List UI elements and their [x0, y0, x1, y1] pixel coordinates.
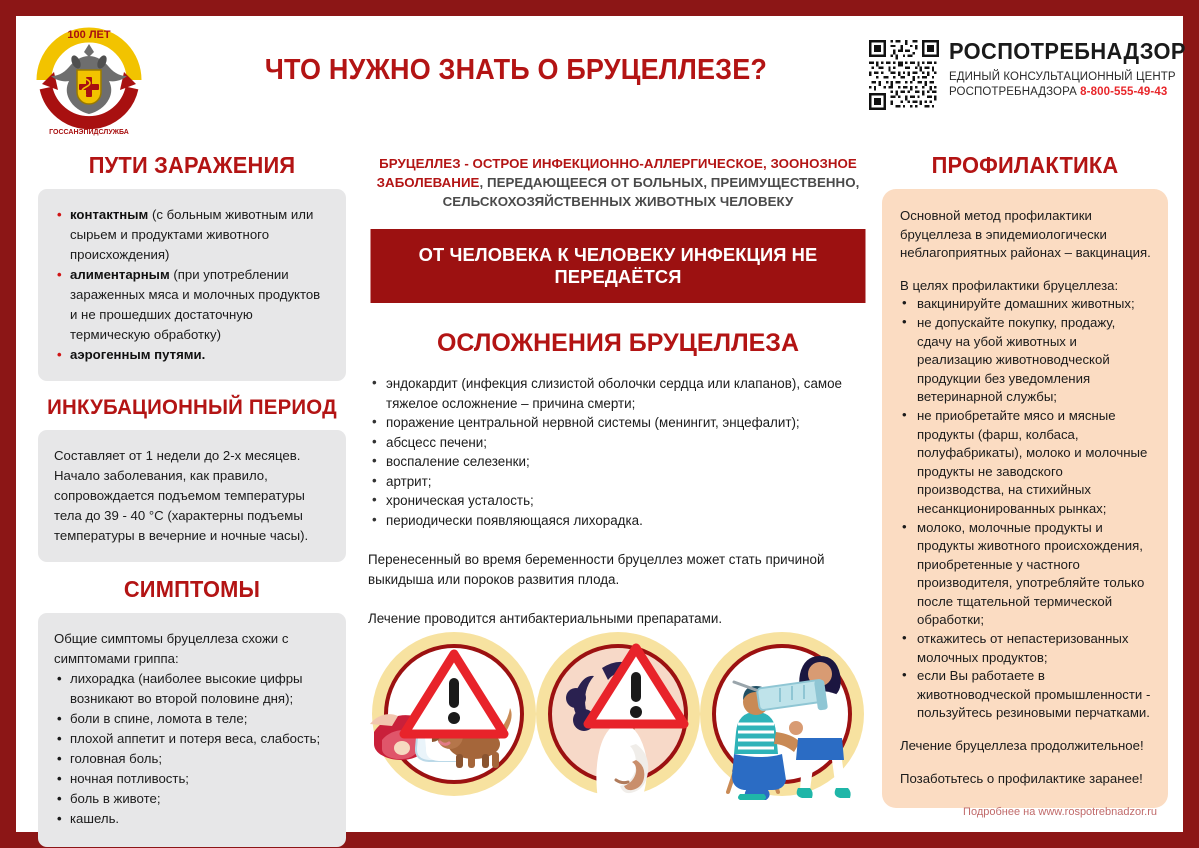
- bullet-icon: •: [57, 205, 62, 225]
- list-item: •боль в животе;: [54, 789, 328, 809]
- prevention-list: •вакцинируйте домашних животных; •не доп…: [900, 295, 1152, 723]
- item-text: вакцинируйте домашних животных;: [917, 296, 1135, 311]
- bullet-icon: •: [57, 769, 62, 789]
- footer-link[interactable]: Подробнее на www.rospotrebnadzor.ru: [963, 806, 1157, 818]
- item-text: кашель.: [70, 811, 119, 826]
- contaminated-food-and-animals-illustration: [368, 628, 540, 800]
- bullet-icon: •: [902, 406, 907, 425]
- list-item: •аэрогенным путями.: [54, 345, 328, 365]
- left-column: ПУТИ ЗАРАЖЕНИЯ •контактным (с больным жи…: [38, 138, 346, 847]
- list-item: •лихорадка (наиболее высокие цифры возни…: [54, 669, 328, 709]
- treatment-note: Лечение проводится антибактериальными пр…: [368, 609, 868, 629]
- item-lead: контактным: [70, 207, 148, 222]
- list-item: •хроническая усталость;: [368, 491, 868, 511]
- item-text: артрит;: [386, 474, 432, 489]
- transmission-panel: •контактным (с больным животным или сырь…: [38, 189, 346, 381]
- bullet-icon: •: [372, 490, 377, 510]
- list-item: •абсцесс печени;: [368, 433, 868, 453]
- closing-treatment: Лечение бруцеллеза продолжительное!: [900, 737, 1152, 756]
- complications-list: •эндокардит (инфекция слизистой оболочки…: [368, 374, 868, 530]
- item-lead: аэрогенным путями.: [70, 347, 205, 362]
- right-column: ПРОФИЛАКТИКА Основной метод профилактики…: [882, 138, 1168, 808]
- page-title: ЧТО НУЖНО ЗНАТЬ О БРУЦЕЛЛЕЗЕ?: [191, 54, 842, 87]
- symptoms-intro: Общие симптомы бруцеллеза схожи с симпто…: [54, 629, 328, 669]
- transmission-list: •контактным (с больным животным или сырь…: [54, 205, 328, 365]
- list-item: •поражение центральной нервной системы (…: [368, 413, 868, 433]
- list-item: •вакцинируйте домашних животных;: [900, 295, 1152, 314]
- transmission-title: ПУТИ ЗАРАЖЕНИЯ: [46, 152, 339, 179]
- list-item: •боли в спине, ломота в теле;: [54, 709, 328, 729]
- bullet-icon: •: [57, 265, 62, 285]
- item-text: не приобретайте мясо и мясные продукты (…: [917, 408, 1147, 516]
- bullet-icon: •: [372, 510, 377, 530]
- list-item: •не приобретайте мясо и мясные продукты …: [900, 407, 1152, 519]
- bullet-icon: •: [57, 669, 62, 689]
- prevention-intro: Основной метод профилактики бруцеллеза в…: [900, 207, 1152, 263]
- item-text: воспаление селезенки;: [386, 454, 530, 469]
- item-lead: алиментарным: [70, 267, 170, 282]
- incubation-title: ИНКУБАЦИОННЫЙ ПЕРИОД: [46, 395, 339, 420]
- bullet-icon: •: [372, 471, 377, 491]
- spacer: [900, 263, 1152, 277]
- item-text: боли в спине, ломота в теле;: [70, 711, 247, 726]
- list-item: •воспаление селезенки;: [368, 452, 868, 472]
- list-item: •плохой аппетит и потеря веса, слабость;: [54, 729, 328, 749]
- pregnancy-note: Перенесенный во время беременности бруце…: [368, 550, 868, 589]
- rospotrebnadzor-emblem-icon: 100 ЛЕТ ГОССАНЭПИДСЛУЖБА: [34, 22, 144, 140]
- bullet-icon: •: [372, 451, 377, 471]
- consultation-center-info: ЕДИНЫЙ КОНСУЛЬТАЦИОННЫЙ ЦЕНТР РОСПОТРЕБН…: [949, 70, 1198, 99]
- rospotrebnadzor-text: РОСПОТРЕБНАДЗОР ЕДИНЫЙ КОНСУЛЬТАЦИОННЫЙ …: [949, 38, 1198, 99]
- list-item: •молоко, молочные продукты и продукты жи…: [900, 519, 1152, 631]
- qr-code-icon: [869, 40, 939, 110]
- item-text: откажитесь от непастеризованных молочных…: [917, 631, 1128, 665]
- complications-title: ОСЛОЖНЕНИЯ БРУЦЕЛЛЕЗА: [368, 329, 868, 358]
- bullet-icon: •: [57, 709, 62, 729]
- item-text: лихорадка (наиболее высокие цифры возник…: [70, 671, 303, 706]
- poster-sheet: 100 ЛЕТ ГОССАНЭПИДСЛУЖБА ЧТО НУЖНО ЗНАТЬ…: [16, 16, 1183, 832]
- symptoms-list: •лихорадка (наиболее высокие цифры возни…: [54, 669, 328, 829]
- item-text: периодически появляющаяся лихорадка.: [386, 513, 643, 528]
- poster-frame: 100 ЛЕТ ГОССАНЭПИДСЛУЖБА ЧТО НУЖНО ЗНАТЬ…: [0, 0, 1199, 848]
- list-item: •откажитесь от непастеризованных молочны…: [900, 630, 1152, 667]
- bullet-icon: •: [902, 294, 907, 313]
- item-text: не допускайте покупку, продажу, сдачу на…: [917, 315, 1115, 404]
- pregnant-woman-warning-illustration: [532, 628, 704, 800]
- bullet-icon: •: [902, 518, 907, 537]
- no-human-to-human-banner: ОТ ЧЕЛОВЕКА К ЧЕЛОВЕКУ ИНФЕКЦИЯ НЕ ПЕРЕД…: [371, 229, 866, 303]
- bullet-icon: •: [372, 412, 377, 432]
- list-item: •периодически появляющаяся лихорадка.: [368, 511, 868, 531]
- list-item: •ночная потливость;: [54, 769, 328, 789]
- incubation-panel: Составляет от 1 недели до 2-х месяцев. Н…: [38, 430, 346, 562]
- bullet-icon: •: [57, 789, 62, 809]
- item-text: хроническая усталость;: [386, 493, 534, 508]
- list-item: •головная боль;: [54, 749, 328, 769]
- list-item: •артрит;: [368, 472, 868, 492]
- bullet-icon: •: [57, 729, 62, 749]
- disease-definition: БРУЦЕЛЛЕЗ - ОСТРОЕ ИНФЕКЦИОННО-АЛЛЕРГИЧЕ…: [368, 154, 868, 211]
- center-line-2: РОСПОТРЕБНАДЗОРА: [949, 86, 1077, 98]
- poster-header: 100 ЛЕТ ГОССАНЭПИДСЛУЖБА ЧТО НУЖНО ЗНАТЬ…: [16, 16, 1183, 138]
- bullet-icon: •: [57, 809, 62, 829]
- spacer: [900, 723, 1152, 737]
- item-text: молоко, молочные продукты и продукты жив…: [917, 520, 1144, 628]
- bullet-icon: •: [57, 345, 62, 365]
- spacer: [900, 756, 1152, 770]
- incubation-text: Составляет от 1 недели до 2-х месяцев. Н…: [54, 446, 328, 546]
- item-text: плохой аппетит и потеря веса, слабость;: [70, 731, 320, 746]
- bullet-icon: •: [372, 432, 377, 452]
- hotline-phone[interactable]: 8-800-555-49-43: [1080, 86, 1167, 98]
- symptoms-title: СИМПТОМЫ: [46, 576, 339, 603]
- bullet-icon: •: [57, 749, 62, 769]
- definition-rest: , ПЕРЕДАЮЩЕЕСЯ ОТ БОЛЬНЫХ, ПРЕИМУЩЕСТВЕН…: [443, 175, 860, 209]
- item-text: головная боль;: [70, 751, 162, 766]
- prevention-panel: Основной метод профилактики бруцеллеза в…: [882, 189, 1168, 808]
- list-item: •не допускайте покупку, продажу, сдачу н…: [900, 314, 1152, 407]
- illustration-row: [368, 628, 868, 808]
- bullet-icon: •: [902, 666, 907, 685]
- bullet-icon: •: [372, 373, 377, 393]
- list-item: •контактным (с больным животным или сырь…: [54, 205, 328, 265]
- emblem-top-text: 100 ЛЕТ: [67, 29, 110, 41]
- item-text: если Вы работаете в животноводческой про…: [917, 668, 1150, 720]
- org-name: РОСПОТРЕБНАДЗОР: [949, 38, 1186, 65]
- list-item: •кашель.: [54, 809, 328, 829]
- rospotrebnadzor-block: РОСПОТРЕБНАДЗОР ЕДИНЫЙ КОНСУЛЬТАЦИОННЫЙ …: [869, 40, 1159, 120]
- closing-prevention: Позаботьтесь о профилактике заранее!: [900, 770, 1152, 789]
- item-text: поражение центральной нервной системы (м…: [386, 415, 800, 430]
- symptoms-panel: Общие симптомы бруцеллеза схожи с симпто…: [38, 613, 346, 847]
- prevention-title: ПРОФИЛАКТИКА: [889, 152, 1161, 179]
- bullet-icon: •: [902, 313, 907, 332]
- item-text: эндокардит (инфекция слизистой оболочки …: [386, 376, 842, 411]
- bullet-icon: •: [902, 629, 907, 648]
- emblem-bottom-text: ГОССАНЭПИДСЛУЖБА: [49, 129, 129, 136]
- list-item: •эндокардит (инфекция слизистой оболочки…: [368, 374, 868, 413]
- list-item: •алиментарным (при употреблении зараженн…: [54, 265, 328, 345]
- vaccination-illustration: [696, 628, 868, 800]
- item-text: боль в животе;: [70, 791, 160, 806]
- list-item: •если Вы работаете в животноводческой пр…: [900, 667, 1152, 723]
- center-line-1: ЕДИНЫЙ КОНСУЛЬТАЦИОННЫЙ ЦЕНТР: [949, 71, 1176, 83]
- item-text: ночная потливость;: [70, 771, 189, 786]
- middle-column: БРУЦЕЛЛЕЗ - ОСТРОЕ ИНФЕКЦИОННО-АЛЛЕРГИЧЕ…: [368, 138, 868, 629]
- prevention-list-intro: В целях профилактики бруцеллеза:: [900, 277, 1152, 296]
- item-text: абсцесс печени;: [386, 435, 487, 450]
